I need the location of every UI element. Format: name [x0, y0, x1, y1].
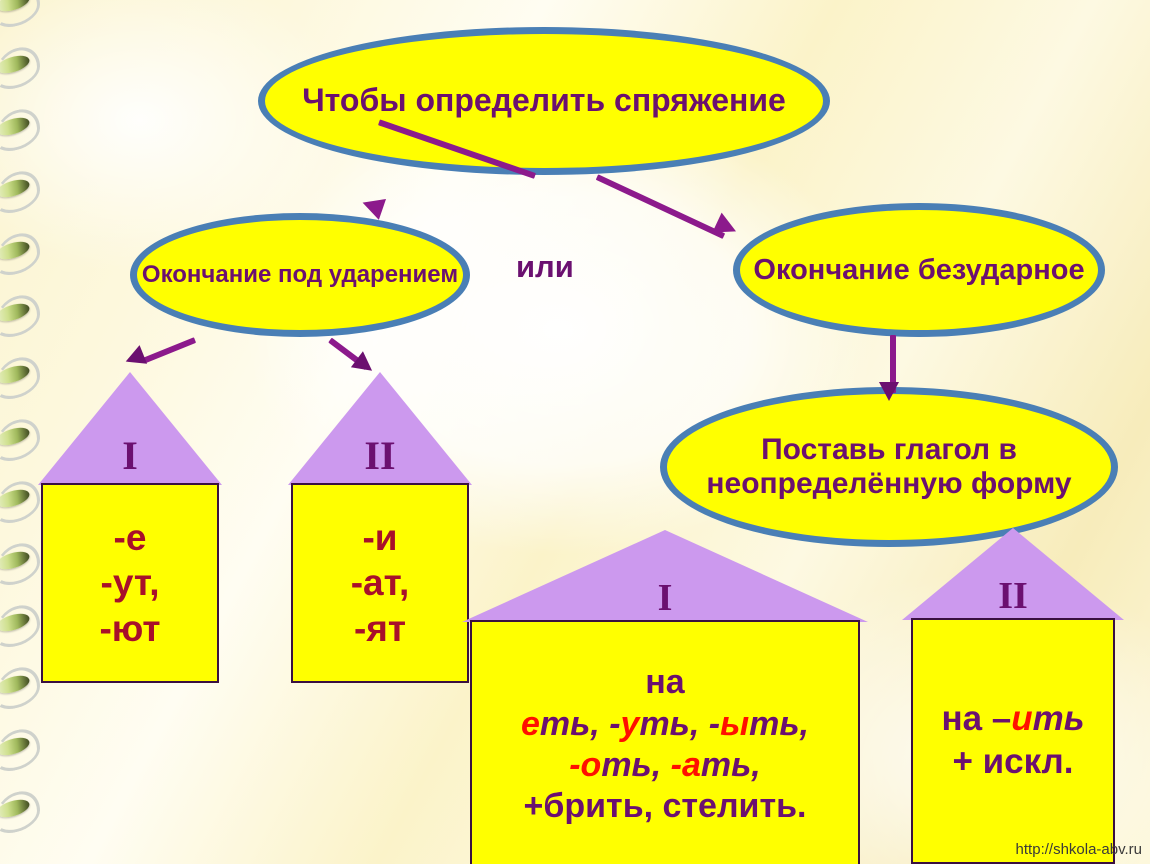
- roof-label: I: [122, 432, 138, 485]
- roof-label: II: [364, 432, 395, 485]
- suffix-line-exceptions: + искл.: [952, 741, 1073, 784]
- suffix-line-na: на: [645, 662, 684, 703]
- house-body-suffixes: на –ить + искл.: [911, 618, 1115, 864]
- suffix-line-it: на –ить: [941, 698, 1084, 741]
- roof-label: I: [658, 576, 673, 622]
- ending-line: -ят: [354, 606, 406, 651]
- suffix-fragment: -: [609, 705, 620, 743]
- suffix-fragment: е: [521, 705, 540, 743]
- node-put-verb-in-infinitive: Поставь глагол в неопределённую форму: [660, 387, 1118, 547]
- roof-label: II: [998, 574, 1028, 620]
- suffix-t: ть: [1033, 699, 1085, 738]
- watermark-url: http://shkola-abv.ru: [1016, 841, 1142, 858]
- label-or: или: [516, 249, 574, 285]
- ending-line: -и: [362, 515, 397, 560]
- suffix-fragment: -: [569, 746, 580, 784]
- suffix-fragment: ть,: [701, 746, 761, 784]
- suffix-fragment: у: [621, 705, 640, 743]
- house-body-endings: -и -ат, -ят: [291, 483, 469, 683]
- suffix-line-1: еть, -уть, -ыть,: [521, 704, 809, 745]
- node-title-determine-conjugation: Чтобы определить спряжение: [258, 27, 830, 175]
- spiral-binding: [0, 0, 42, 864]
- vowel-i: и: [1011, 699, 1032, 738]
- suffix-fragment: -: [709, 705, 720, 743]
- roof-triangle: II: [902, 528, 1124, 620]
- suffix-line-exceptions: +брить, стелить.: [524, 786, 807, 827]
- suffix-fragment: ть,: [601, 746, 670, 784]
- prefix-na: на –: [941, 699, 1011, 738]
- house-body-endings: -е -ут, -ют: [41, 483, 219, 683]
- suffix-fragment: о: [581, 746, 602, 784]
- roof-triangle: I: [38, 372, 222, 485]
- ending-line: -ют: [99, 606, 160, 651]
- house-body-suffixes: на еть, -уть, -ыть, -оть, -ать, +брить, …: [470, 620, 860, 864]
- suffix-fragment: ть,: [749, 705, 809, 743]
- suffix-fragment: а: [682, 746, 701, 784]
- slide-canvas: Чтобы определить спряжение Окончание под…: [0, 0, 1150, 864]
- suffix-line-2: -оть, -ать,: [569, 745, 761, 786]
- node-unstressed-ending: Окончание безударное: [733, 203, 1105, 337]
- node-stressed-ending: Окончание под ударением: [130, 213, 470, 337]
- suffix-fragment: -: [671, 746, 682, 784]
- roof-triangle: I: [462, 530, 868, 622]
- suffix-fragment: ть,: [639, 705, 708, 743]
- ending-line: -ут,: [101, 560, 160, 605]
- ending-line: -ат,: [351, 560, 410, 605]
- suffix-fragment: ть,: [540, 705, 609, 743]
- ending-line: -е: [114, 515, 147, 560]
- suffix-fragment: ы: [720, 705, 749, 743]
- roof-triangle: II: [288, 372, 472, 485]
